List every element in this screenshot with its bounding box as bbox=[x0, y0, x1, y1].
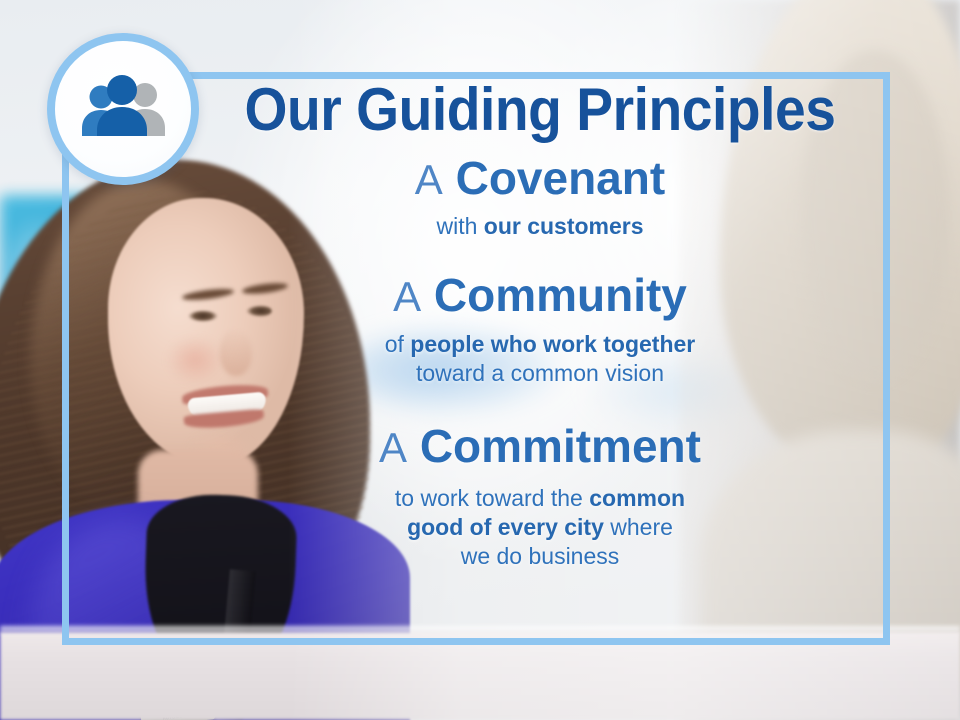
subtext-line: of people who work together bbox=[200, 330, 880, 359]
subtext-part: toward a common vision bbox=[416, 360, 664, 386]
principle-heading: A Commitment bbox=[200, 422, 880, 472]
principle-article: A bbox=[379, 424, 407, 471]
principle-community: A Community of people who work together … bbox=[200, 271, 880, 389]
subtext-line: we do business bbox=[200, 542, 880, 571]
subtext-part: we do business bbox=[461, 543, 620, 569]
subtext-line: to work toward the common bbox=[200, 484, 880, 513]
subtext-part: with bbox=[436, 213, 483, 239]
page-title: Our Guiding Principles bbox=[227, 80, 853, 140]
subtext-part: of bbox=[385, 331, 411, 357]
guiding-principles-banner: FLOW AUTOMOTIVE FLOW Our Guiding Prin bbox=[0, 0, 960, 720]
principle-commitment: A Commitment to work toward the common g… bbox=[200, 422, 880, 571]
subtext-part: to work toward the bbox=[395, 485, 589, 511]
subtext-part-bold: people who work together bbox=[410, 331, 695, 357]
principle-heading: A Community bbox=[200, 271, 880, 321]
principle-subtext: to work toward the common good of every … bbox=[200, 484, 880, 571]
principle-article: A bbox=[393, 273, 421, 320]
people-group-icon bbox=[75, 74, 171, 144]
subtext-line: good of every city where bbox=[200, 513, 880, 542]
subtext-part-bold: our customers bbox=[484, 213, 644, 239]
principle-heading: A Covenant bbox=[200, 154, 880, 204]
principle-subtext: with our customers bbox=[200, 212, 880, 241]
subtext-line: with our customers bbox=[436, 213, 643, 239]
subtext-part-bold: common bbox=[589, 485, 685, 511]
principle-keyword: Covenant bbox=[456, 152, 666, 204]
text-content: Our Guiding Principles A Covenant with o… bbox=[200, 80, 880, 571]
principle-subtext: of people who work together toward a com… bbox=[200, 330, 880, 388]
principle-keyword: Community bbox=[434, 269, 687, 321]
subtext-part-bold: good of every city bbox=[407, 514, 604, 540]
people-icon-badge bbox=[47, 33, 199, 185]
principle-keyword: Commitment bbox=[420, 420, 701, 472]
principle-covenant: A Covenant with our customers bbox=[200, 154, 880, 241]
desk-surface bbox=[0, 632, 960, 720]
subtext-part: where bbox=[604, 514, 673, 540]
subtext-line: toward a common vision bbox=[200, 359, 880, 388]
principle-article: A bbox=[415, 156, 443, 203]
